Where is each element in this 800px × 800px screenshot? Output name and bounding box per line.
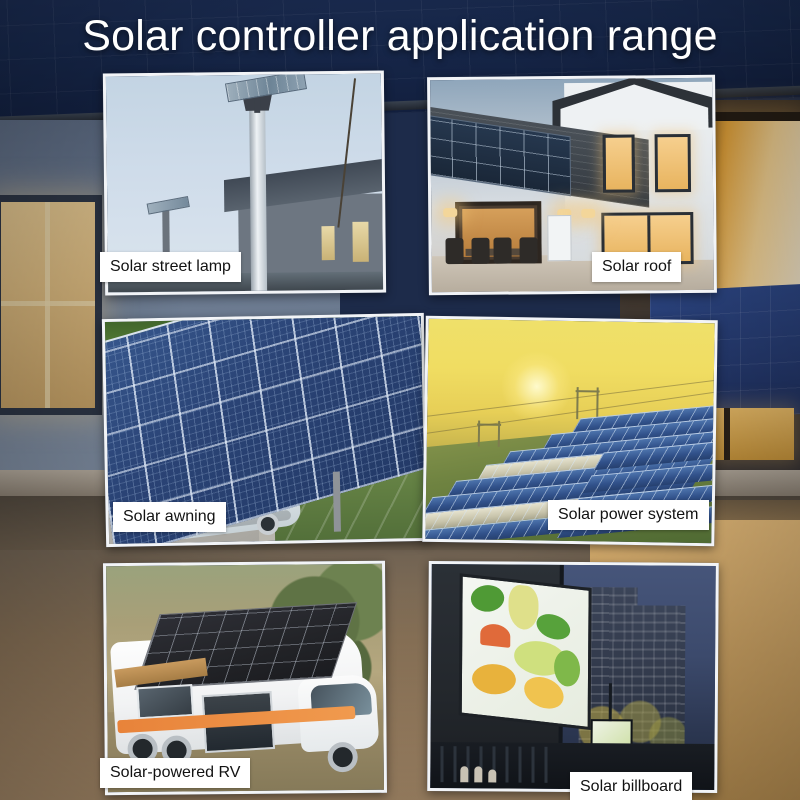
lamp-pole xyxy=(249,105,267,293)
sun-glow xyxy=(502,351,573,422)
page-title: Solar controller application range xyxy=(0,8,800,64)
upper-window xyxy=(603,134,636,192)
gallery-item-solar-billboard[interactable] xyxy=(427,561,719,793)
pedestrian xyxy=(474,766,482,782)
produce-graphic xyxy=(480,623,510,648)
caption-solar-awning: Solar awning xyxy=(113,502,226,532)
transmission-tower xyxy=(576,387,598,419)
produce-graphic xyxy=(534,610,572,644)
led-billboard-screen xyxy=(459,573,592,730)
patio-chair xyxy=(519,237,537,263)
patio-chair xyxy=(445,238,463,264)
carport-post xyxy=(333,472,341,532)
caption-solar-billboard: Solar billboard xyxy=(570,772,692,800)
wall-lamp xyxy=(443,208,457,217)
photo-solar-billboard xyxy=(430,564,716,790)
produce-graphic xyxy=(467,582,507,615)
pedestrian xyxy=(460,766,468,782)
house-window xyxy=(321,226,334,260)
caption-solar-powered-rv: Solar-powered RV xyxy=(100,758,250,788)
patio-chair xyxy=(471,238,489,264)
upper-window xyxy=(655,134,692,192)
caption-solar-roof: Solar roof xyxy=(592,252,681,282)
wall-lamp xyxy=(581,209,595,218)
ground-floor-railing xyxy=(440,746,552,783)
battery-unit xyxy=(547,215,571,261)
house-window xyxy=(352,222,368,262)
produce-graphic xyxy=(470,663,518,694)
produce-graphic xyxy=(508,584,538,631)
rv-wheel xyxy=(328,742,358,772)
rv-window xyxy=(136,684,194,719)
patio-chair xyxy=(493,238,511,264)
pedestrian xyxy=(488,769,496,782)
caption-solar-street-lamp: Solar street lamp xyxy=(100,252,241,282)
produce-graphic xyxy=(554,649,580,688)
caption-solar-power-system: Solar power system xyxy=(548,500,709,530)
poster-canvas: Solar controller application range xyxy=(0,0,800,800)
